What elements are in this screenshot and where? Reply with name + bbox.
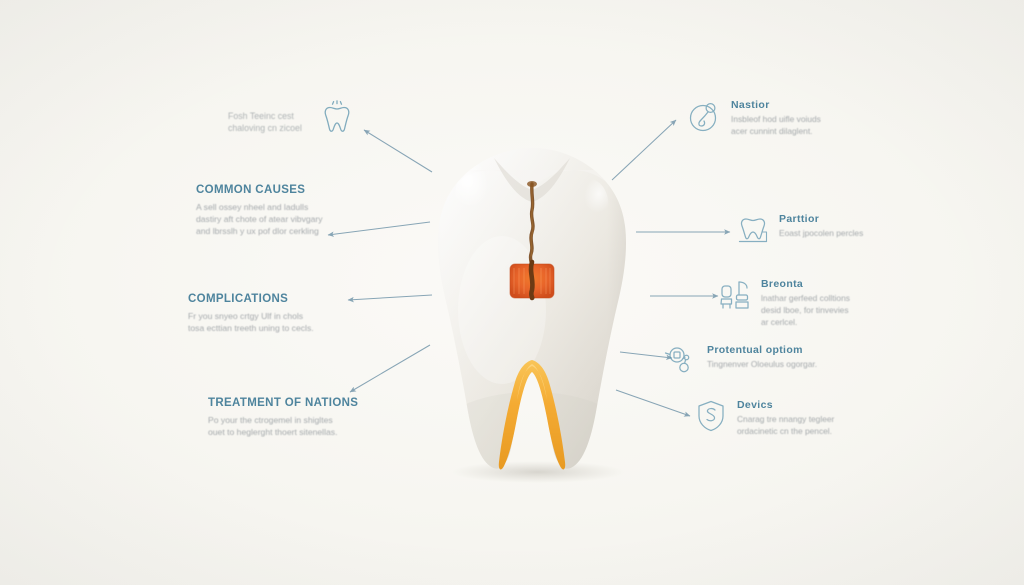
right-item-devics-text: Devics Cnarag tre nnangy tegleer ordacin… <box>737 399 834 438</box>
inflamed-dentin-patch <box>510 262 554 298</box>
shield-tooth-icon <box>694 399 728 433</box>
right-item-breonta-heading: Breonta <box>761 278 850 290</box>
dental-mirror-circle-icon <box>688 99 722 133</box>
left-item-common-causes-heading: COMMON CAUSES <box>196 184 346 196</box>
tooth-in-gum-icon <box>736 213 770 247</box>
right-item-breonta-text: Breonta lnathar gerfeed colltions desid … <box>761 278 850 329</box>
right-item-devics: Devics Cnarag tre nnangy tegleer ordacin… <box>694 399 889 438</box>
dental-chair-icon <box>718 278 752 312</box>
right-item-breonta-body: lnathar gerfeed colltions desid lboe, fo… <box>761 293 850 329</box>
right-item-nastior: Nastior Insbleof hod uifle voiuds acer c… <box>688 99 888 138</box>
left-item-complications-heading: COMPLICATIONS <box>188 293 338 305</box>
right-item-parttior-text: Parttior Eoast jpocolen percles <box>779 213 863 240</box>
left-item-common-causes: COMMON CAUSES A sell ossey nheel and lad… <box>196 184 346 238</box>
right-item-nastior-text: Nastior Insbleof hod uifle voiuds acer c… <box>731 99 821 138</box>
left-item-treatment-options-body: Po your the ctrogemel in shigltes ouet t… <box>208 414 358 438</box>
tooth-ground-shadow <box>452 461 624 483</box>
left-item-treatment-options-heading: TREATMENT OF NATIONS <box>208 397 358 409</box>
right-item-devics-heading: Devics <box>737 399 834 411</box>
left-item-prevention-body: Fosh Teeinc cest chaloving cn zicoel <box>228 110 358 135</box>
right-item-protentual-optiom-heading: Protentual optiom <box>707 344 817 356</box>
right-item-protentual-optiom: Protentual optiom Tingnenver Oloeulus og… <box>664 344 874 378</box>
right-item-devics-body: Cnarag tre nnangy tegleer ordacinetic cn… <box>737 414 834 438</box>
right-item-protentual-optiom-body: Tingnenver Oloeulus ogorgar. <box>707 359 817 371</box>
right-item-nastior-heading: Nastior <box>731 99 821 111</box>
left-item-complications-body: Fr you snyeo crtgy Ulf in chols tosa ect… <box>188 310 338 334</box>
central-tooth-illustration <box>398 140 666 480</box>
right-item-protentual-optiom-text: Protentual optiom Tingnenver Oloeulus og… <box>707 344 817 371</box>
left-item-treatment-options: TREATMENT OF NATIONS Po your the ctrogem… <box>208 397 358 438</box>
left-item-prevention: Fosh Teeinc cest chaloving cn zicoel <box>228 110 358 135</box>
molecule-search-icon <box>664 344 698 378</box>
right-item-parttior-body: Eoast jpocolen percles <box>779 228 863 240</box>
right-item-parttior: Parttior Eoast jpocolen percles <box>736 213 926 247</box>
right-item-nastior-body: Insbleof hod uifle voiuds acer cunnint d… <box>731 114 821 138</box>
right-item-parttior-heading: Parttior <box>779 213 863 225</box>
right-item-breonta: Breonta lnathar gerfeed colltions desid … <box>718 278 908 329</box>
tooth-infographic: Fosh Teeinc cest chaloving cn zicoel COM… <box>0 0 1024 585</box>
left-item-common-causes-body: A sell ossey nheel and ladulls dastiry a… <box>196 201 346 238</box>
left-item-complications: COMPLICATIONS Fr you snyeo crtgy Ulf in … <box>188 293 338 334</box>
